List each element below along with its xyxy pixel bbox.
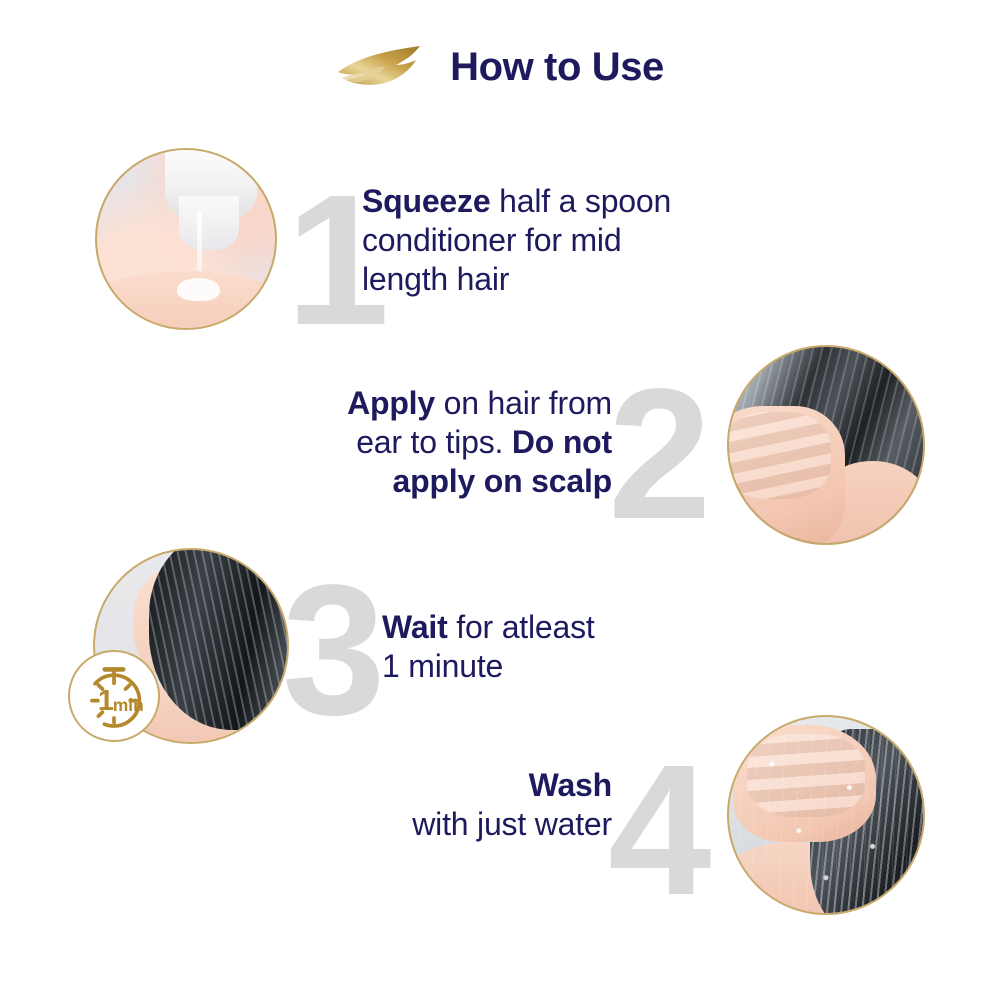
svg-text:min: min <box>113 695 144 715</box>
step-4-line-2: with just water <box>300 805 612 844</box>
step-4-line-1: Wash <box>300 766 612 805</box>
step-3-line-2: 1 minute <box>382 647 722 686</box>
step-2-line-1-bold: Apply <box>347 385 435 421</box>
step-2-line-3-bold: apply on scalp <box>393 463 612 499</box>
dove-bird-icon <box>336 42 428 92</box>
step-1-line-3: length hair <box>362 260 782 299</box>
step-2-line-3: apply on scalp <box>250 462 612 501</box>
step-4-line-1-bold: Wash <box>529 767 612 803</box>
page-header: How to Use <box>0 34 1000 100</box>
svg-text:1: 1 <box>98 685 114 717</box>
water-droplets-overlay <box>729 717 923 913</box>
stopwatch-icon: 1 min <box>77 659 151 733</box>
step-4-text: Wash with just water <box>300 766 612 844</box>
step-1-line-1: Squeeze half a spoon <box>362 182 782 221</box>
step-2-line-1: Apply on hair from <box>250 384 612 423</box>
step-1-line-2: conditioner for mid <box>362 221 782 260</box>
bottle-nozzle-shape <box>179 196 240 249</box>
step-3-line-1-bold: Wait <box>382 609 448 645</box>
one-minute-timer-badge: 1 min <box>68 650 160 742</box>
step-2-line-2-bold: Do not <box>512 424 612 460</box>
step-1-line-1-bold: Squeeze <box>362 183 490 219</box>
step-4-number: 4 <box>608 738 705 924</box>
step-1-line-1-rest: half a spoon <box>490 183 671 219</box>
conditioner-blob-shape <box>177 278 220 301</box>
step-1-text: Squeeze half a spoon conditioner for mid… <box>362 182 782 299</box>
step-2-number: 2 <box>608 362 705 548</box>
applying-hand-shape <box>727 406 845 545</box>
step-4-photo <box>727 715 925 915</box>
step-1-photo <box>95 148 277 330</box>
step-3-number: 3 <box>282 558 379 744</box>
step-2-line-1-rest: on hair from <box>435 385 612 421</box>
step-2-line-2-rest: ear to tips. <box>356 424 512 460</box>
step-3-line-1-rest: for atleast <box>448 609 595 645</box>
step-2-text: Apply on hair from ear to tips. Do not a… <box>250 384 612 501</box>
step-2-photo <box>727 345 925 545</box>
page-title: How to Use <box>450 47 664 87</box>
step-3-text: Wait for atleast 1 minute <box>382 608 722 686</box>
step-3-line-1: Wait for atleast <box>382 608 722 647</box>
step-2-line-2: ear to tips. Do not <box>250 423 612 462</box>
